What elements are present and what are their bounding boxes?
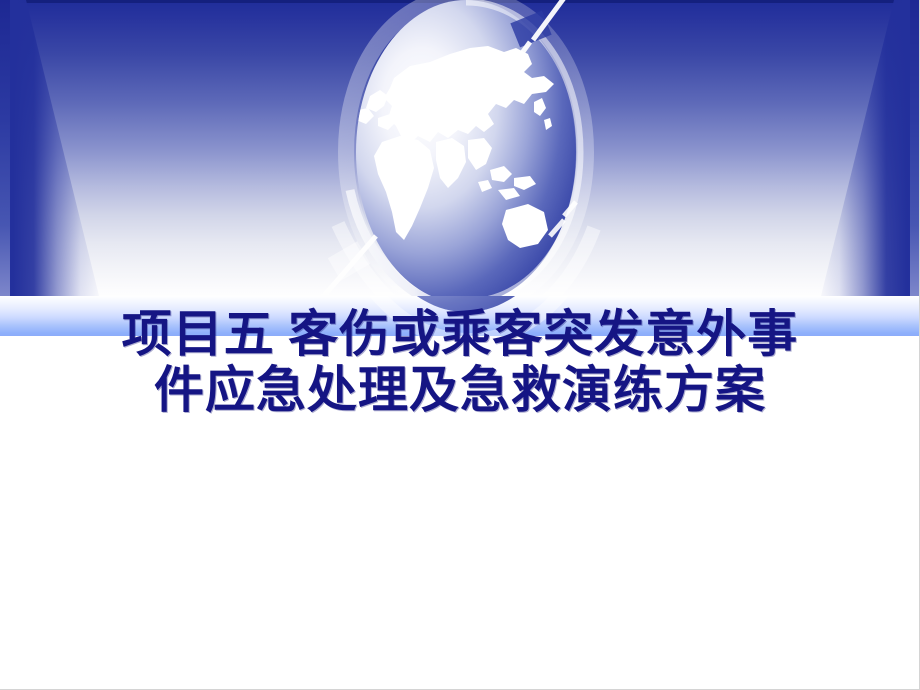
left-edge-band — [0, 0, 130, 300]
slide-body-area — [0, 440, 920, 690]
slide-background-gradient — [0, 0, 920, 300]
presentation-slide: 项目五 客伤或乘客突发意外事 件应急处理及急救演练方案 — [0, 0, 920, 690]
slide-title: 项目五 客伤或乘客突发意外事 件应急处理及急救演练方案 — [0, 306, 920, 418]
right-edge-band — [790, 0, 920, 300]
globe-graphic — [318, 0, 618, 300]
